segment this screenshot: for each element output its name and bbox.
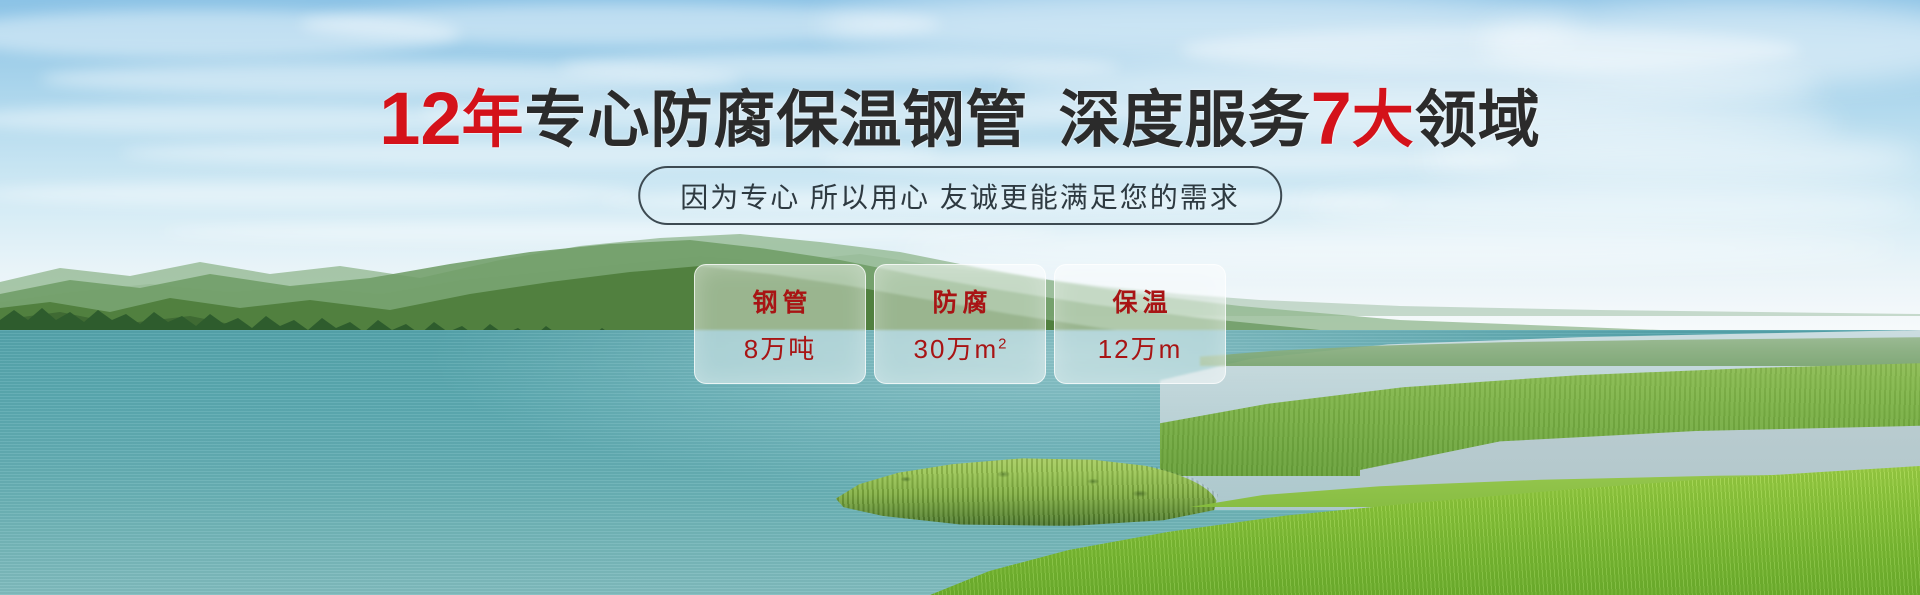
stat-card-steel-pipe: 钢管 8万吨	[694, 264, 866, 384]
stat-card-title: 保温	[1107, 283, 1172, 319]
stat-value-text: 30万m	[914, 334, 999, 364]
promo-banner: 12年专心防腐保温钢管深度服务7大领域 因为专心 所以用心 友诚更能满足您的需求…	[0, 0, 1920, 595]
stat-card-group: 钢管 8万吨 防腐 30万m2 保温 12万m	[694, 264, 1226, 384]
headline-service-text: 深度服务	[1059, 86, 1311, 155]
stat-value-text: 12万m	[1098, 334, 1183, 364]
stat-card-anticorrosion: 防腐 30万m2	[874, 264, 1046, 384]
subtitle-text: 因为专心 所以用心 友诚更能满足您的需求	[680, 176, 1240, 216]
stat-card-insulation: 保温 12万m	[1054, 264, 1226, 384]
headline-years-number: 12	[379, 77, 461, 160]
headline: 12年专心防腐保温钢管深度服务7大领域	[0, 82, 1920, 156]
headline-years-unit: 年	[462, 86, 525, 155]
stat-value-superscript: 2	[998, 335, 1006, 352]
stat-card-value: 30万m2	[914, 329, 1007, 366]
headline-fields-unit: 大	[1352, 86, 1415, 155]
stat-card-value: 8万吨	[744, 329, 816, 366]
subtitle-pill: 因为专心 所以用心 友诚更能满足您的需求	[638, 166, 1282, 225]
stat-card-title: 钢管	[747, 283, 812, 319]
headline-fields-tail: 领域	[1415, 86, 1541, 155]
stat-card-title: 防腐	[927, 283, 992, 319]
stat-card-value: 12万m	[1098, 329, 1183, 366]
stat-value-text: 8万吨	[744, 334, 816, 364]
headline-main-text: 专心防腐保温钢管	[525, 86, 1029, 155]
headline-fields-number: 7	[1311, 77, 1352, 160]
